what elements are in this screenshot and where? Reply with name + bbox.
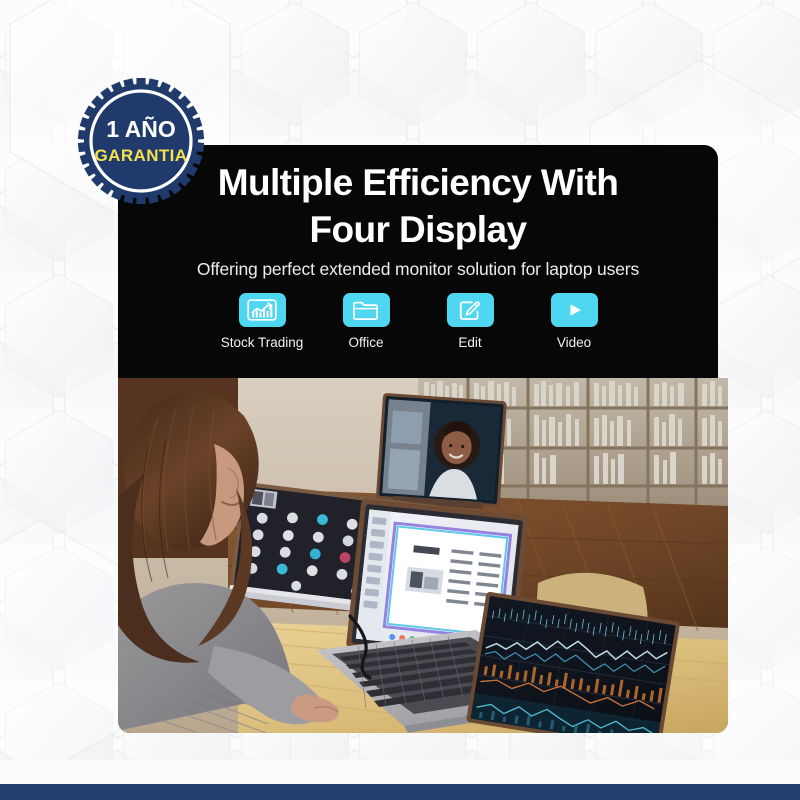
feature-label: Stock Trading bbox=[221, 335, 304, 350]
page-title: Multiple Efficiency With Four Display bbox=[118, 159, 718, 254]
feature-label: Edit bbox=[458, 335, 481, 350]
feature-label: Office bbox=[348, 335, 383, 350]
feature-item-stock-trading[interactable]: Stock Trading bbox=[214, 293, 310, 350]
feature-item-video[interactable]: Video bbox=[526, 293, 622, 350]
play-triangle-icon bbox=[551, 293, 598, 327]
headline-line-2: Four Display bbox=[132, 206, 704, 253]
feature-item-edit[interactable]: Edit bbox=[422, 293, 518, 350]
badge-line-2: GARANTIA bbox=[95, 146, 188, 165]
warranty-badge: 1 AÑO GARANTIA bbox=[78, 78, 204, 204]
page-subtitle: Offering perfect extended monitor soluti… bbox=[118, 259, 718, 280]
folder-icon bbox=[343, 293, 390, 327]
bottom-accent-bar bbox=[0, 784, 800, 800]
header-panel: Multiple Efficiency With Four Display Of… bbox=[118, 145, 718, 378]
pencil-square-icon bbox=[447, 293, 494, 327]
feature-label: Video bbox=[557, 335, 591, 350]
chart-growth-icon bbox=[239, 293, 286, 327]
feature-item-office[interactable]: Office bbox=[318, 293, 414, 350]
headline-line-1: Multiple Efficiency With bbox=[132, 159, 704, 206]
badge-line-1: 1 AÑO bbox=[106, 115, 175, 142]
promo-card: Multiple Efficiency With Four Display Of… bbox=[118, 145, 728, 733]
lifestyle-photo bbox=[118, 378, 728, 733]
feature-icon-row: Stock Trading Office bbox=[214, 293, 622, 350]
